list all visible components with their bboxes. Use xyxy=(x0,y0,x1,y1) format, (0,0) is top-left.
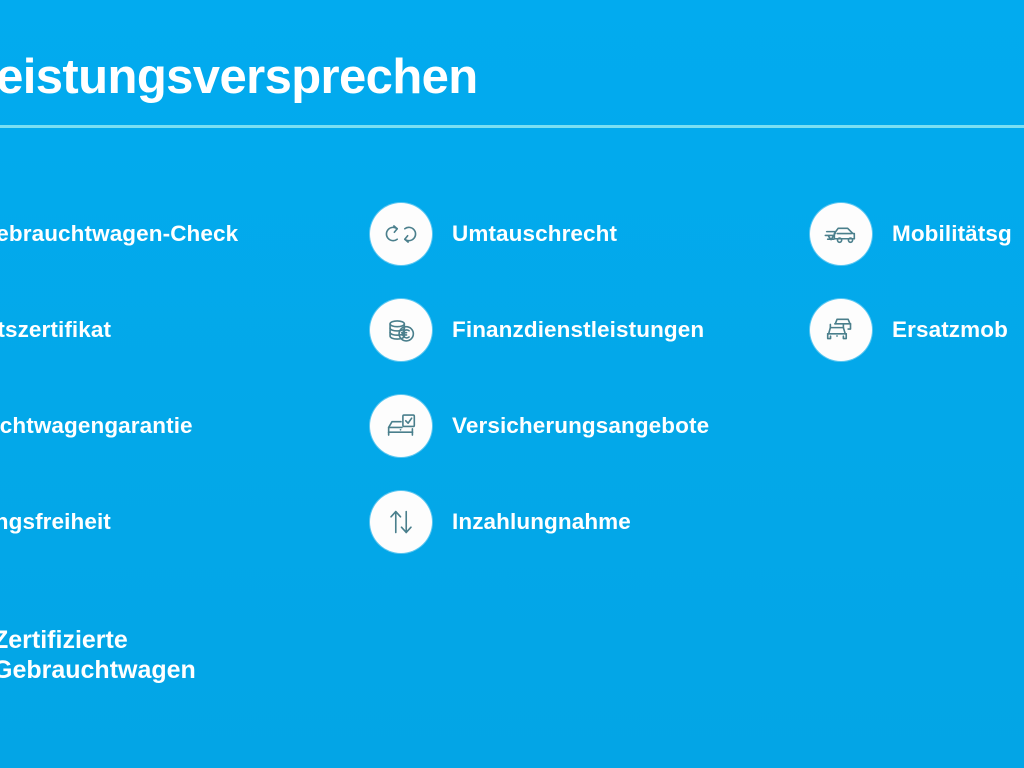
promises-column-3: Mobilitätsg xyxy=(810,186,1024,378)
list-item[interactable]: Finanzdienstleistungen xyxy=(370,282,810,378)
promises-column-2: Umtauschrecht Finanzdienst xyxy=(370,186,810,570)
page-title: ere Leistungsversprechen xyxy=(0,46,478,108)
list-item[interactable]: Vartungsfreiheit xyxy=(0,474,368,570)
two-cars-icon xyxy=(810,299,872,361)
exchange-arrows-icon xyxy=(370,203,432,265)
promise-label: Finanzdienstleistungen xyxy=(452,316,704,344)
promise-label: Versicherungsangebote xyxy=(452,412,709,440)
promise-label: Inzahlungnahme xyxy=(452,508,631,536)
list-item[interactable]: ebrauchtwagengarantie xyxy=(0,378,368,474)
list-item[interactable]: Umtauschrecht xyxy=(370,186,810,282)
brand-line-2: Gebrauchtwagen xyxy=(0,655,413,685)
promise-label: Mobilitätsg xyxy=(892,220,1012,248)
up-down-arrows-icon xyxy=(370,491,432,553)
list-item[interactable]: Versicherungsangebote xyxy=(370,378,810,474)
list-item[interactable]: Inzahlungnahme xyxy=(370,474,810,570)
promise-label: ualitätszertifikat xyxy=(0,316,111,344)
promise-label: 60° Gebrauchtwagen-Check xyxy=(0,220,238,248)
list-item[interactable]: ualitätszertifikat xyxy=(0,282,368,378)
promise-label: Umtauschrecht xyxy=(452,220,617,248)
car-checkbox-icon xyxy=(370,395,432,457)
promises-grid: 60° Gebrauchtwagen-Check ualitätszertifi… xyxy=(0,186,1024,586)
promise-label: Vartungsfreiheit xyxy=(0,508,111,536)
car-speed-icon xyxy=(810,203,872,265)
coins-euro-icon xyxy=(370,299,432,361)
list-item[interactable]: Mobilitätsg xyxy=(810,186,1024,282)
promises-column-1: 60° Gebrauchtwagen-Check ualitätszertifi… xyxy=(0,186,368,570)
brand-lockup: Zertifizierte Gebrauchtwagen xyxy=(0,625,413,685)
list-item[interactable]: Ersatzmob xyxy=(810,282,1024,378)
list-item[interactable]: 60° Gebrauchtwagen-Check xyxy=(0,186,368,282)
promise-label: Ersatzmob xyxy=(892,316,1008,344)
slide-header: ere Leistungsversprechen xyxy=(0,46,1024,130)
slide-canvas: ere Leistungsversprechen 60° Gebrauchtwa… xyxy=(0,0,1024,768)
brand-line-1: Zertifizierte xyxy=(0,625,413,655)
title-divider xyxy=(0,125,1024,128)
promise-label: ebrauchtwagengarantie xyxy=(0,412,193,440)
